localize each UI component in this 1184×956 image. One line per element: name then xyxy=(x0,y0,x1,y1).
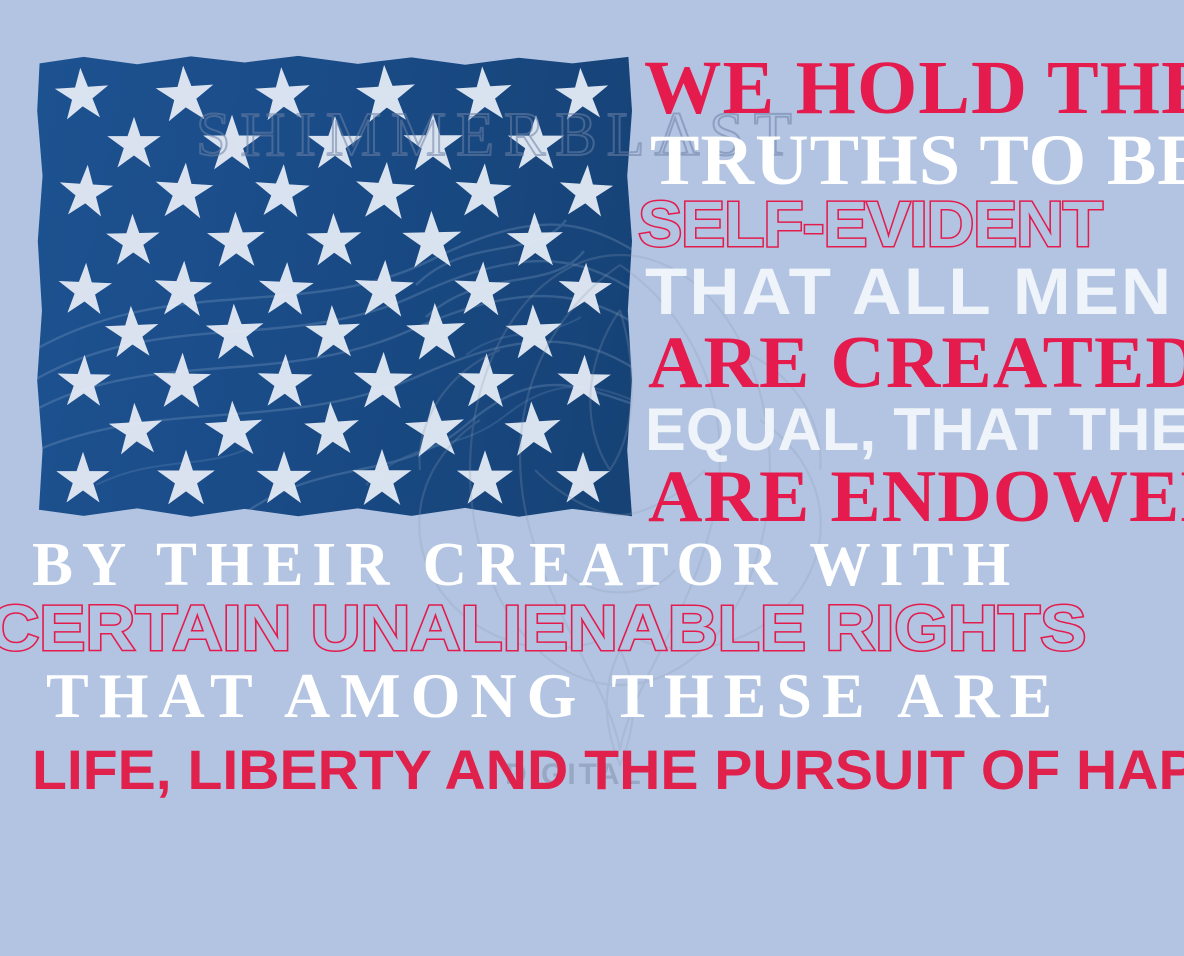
flag-star xyxy=(403,113,463,173)
quote-line-that-among-these-are: THAT AMONG THESE ARE xyxy=(46,664,1062,728)
flag-star xyxy=(253,65,312,124)
flag-star xyxy=(53,66,111,124)
quote-line-equal-that-they: EQUAL, THAT THEY xyxy=(645,400,1184,460)
flag-star xyxy=(153,161,215,223)
flag-star xyxy=(256,353,313,410)
flag-star xyxy=(556,354,612,410)
flag-star xyxy=(403,398,467,462)
flag-star xyxy=(256,451,312,507)
flag-star xyxy=(457,352,516,411)
flag-star xyxy=(154,64,216,126)
flag-star xyxy=(556,452,611,507)
flag-star xyxy=(57,163,115,221)
flag-star xyxy=(507,115,564,172)
quote-line-by-their-creator-with: BY THEIR CREATOR WITH xyxy=(32,534,1019,596)
flag-star xyxy=(56,354,112,410)
flag-star xyxy=(401,210,463,272)
flag-star xyxy=(203,399,265,461)
quote-line-are-endowed: ARE ENDOWED xyxy=(648,460,1184,534)
flag-star xyxy=(152,259,213,320)
quote-line-that-all-men: THAT ALL MEN xyxy=(645,258,1173,324)
flag-star xyxy=(557,261,614,318)
flag-star xyxy=(352,449,412,509)
flag-star xyxy=(57,261,114,318)
flag-star xyxy=(305,212,362,269)
flag-star xyxy=(453,162,514,223)
flag-star xyxy=(252,163,311,222)
flag-star xyxy=(405,302,468,365)
flag-star xyxy=(204,302,265,363)
flag-canton xyxy=(36,55,632,520)
flag-star xyxy=(105,213,161,269)
flag-star xyxy=(504,303,564,363)
flag-star xyxy=(104,305,161,362)
flag-star xyxy=(456,450,513,507)
design-canvas: SHIMMERBLAST DIGITAL WE HOLD THESE TRUTH… xyxy=(0,0,1184,956)
flag-star xyxy=(257,260,315,318)
flag-star xyxy=(353,258,416,321)
flag-star xyxy=(107,116,162,171)
flag-star xyxy=(203,114,262,173)
flag-star xyxy=(553,66,611,124)
flag-star xyxy=(503,400,564,461)
flag-star xyxy=(454,65,515,126)
flag-star xyxy=(307,116,363,172)
quote-line-life-liberty-happiness: LIFE, LIBERTY AND THE PURSUIT OF HAPPINE… xyxy=(32,742,1184,798)
flag-star xyxy=(452,260,512,320)
flag-star xyxy=(157,450,216,509)
quote-line-are-created: ARE CREATED xyxy=(648,326,1184,400)
quote-line-certain-unalienable-rights: CERTAIN UNALIENABLE RIGHTS xyxy=(0,596,1086,660)
flag-star xyxy=(304,304,362,362)
quote-line-self-evident: SELF-EVIDENT xyxy=(638,192,1102,256)
flag-star xyxy=(506,212,565,271)
quote-line-we-hold-these: WE HOLD THESE xyxy=(644,50,1184,126)
flag-star xyxy=(56,452,111,507)
flag-star xyxy=(353,160,417,224)
flag-star xyxy=(557,163,615,221)
flag-star xyxy=(206,211,266,271)
star-field xyxy=(36,55,632,520)
quote-line-truths-to-be: TRUTHS TO BE xyxy=(650,124,1184,196)
flag-star xyxy=(152,352,212,412)
flag-star xyxy=(352,351,414,413)
flag-star xyxy=(354,63,418,127)
flag-star xyxy=(107,401,165,459)
flag-star xyxy=(302,401,361,460)
